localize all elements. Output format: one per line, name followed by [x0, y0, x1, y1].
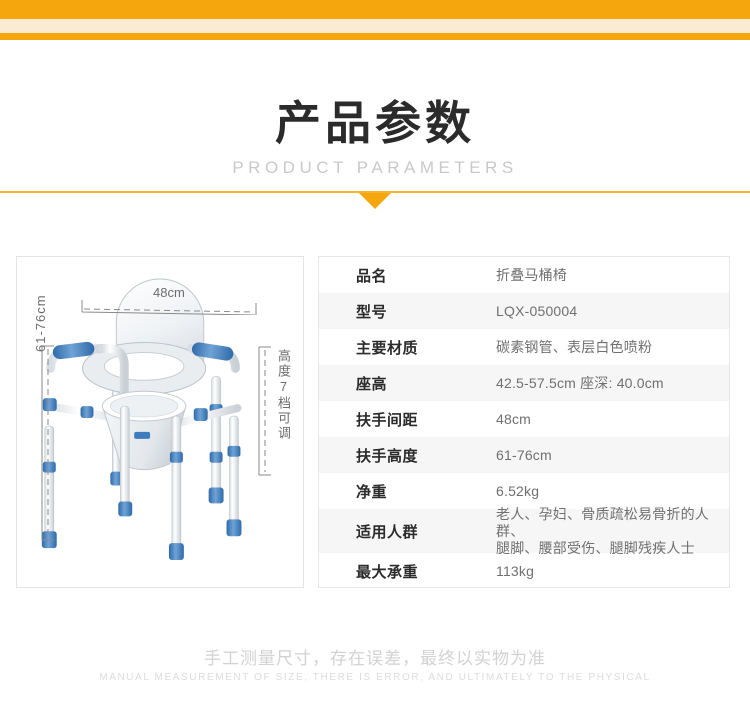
- spec-value: 61-76cm: [496, 447, 729, 464]
- spec-value: LQX-050004: [496, 303, 729, 320]
- dimension-height-bracket: [41, 343, 57, 543]
- spec-value: 老人、孕妇、骨质疏松易骨折的人群、 腿脚、腰部受伤、腿脚残疾人士: [496, 506, 729, 557]
- dimension-height-label: 61-76cm: [33, 294, 48, 352]
- header-bar-orange-top: [0, 0, 750, 19]
- section-heading: 产品参数 PRODUCT PARAMETERS: [0, 95, 750, 178]
- header-bar-cream: [0, 19, 750, 33]
- spec-label: 座高: [356, 373, 496, 394]
- spec-label: 净重: [356, 481, 496, 502]
- table-row: 扶手间距 48cm: [319, 401, 729, 437]
- spec-value: 6.52kg: [496, 483, 729, 500]
- table-row: 座高 42.5-57.5cm 座深: 40.0cm: [319, 365, 729, 401]
- spec-label: 适用人群: [356, 521, 496, 542]
- spec-value: 42.5-57.5cm 座深: 40.0cm: [496, 375, 729, 392]
- spec-label: 品名: [356, 265, 496, 286]
- page-subtitle: PRODUCT PARAMETERS: [0, 158, 750, 178]
- table-row: 型号 LQX-050004: [319, 293, 729, 329]
- table-row: 主要材质 碳素钢管、表层白色喷粉: [319, 329, 729, 365]
- footer-disclaimer: 手工测量尺寸，存在误差，最终以实物为准 MANUAL MEASUREMENT O…: [0, 648, 750, 686]
- product-image-panel: 48cm 61-76cm 高度7档可调: [16, 256, 304, 588]
- table-row: 品名 折叠马桶椅: [319, 257, 729, 293]
- spec-value: 碳素钢管、表层白色喷粉: [496, 339, 729, 356]
- page-title: 产品参数: [0, 95, 750, 151]
- footer-disclaimer-cn: 手工测量尺寸，存在误差，最终以实物为准: [0, 648, 750, 670]
- dimension-adjust-bracket: [257, 345, 273, 477]
- spec-label: 扶手高度: [356, 445, 496, 466]
- header-bar-orange-bottom: [0, 33, 750, 40]
- footer-disclaimer-en: MANUAL MEASUREMENT OF SIZE, THERE IS ERR…: [0, 670, 750, 686]
- spec-label: 最大承重: [356, 561, 496, 582]
- table-row: 最大承重 113kg: [319, 553, 729, 589]
- table-row: 适用人群 老人、孕妇、骨质疏松易骨折的人群、 腿脚、腰部受伤、腿脚残疾人士: [319, 509, 729, 553]
- spec-label: 扶手间距: [356, 409, 496, 430]
- spec-table: 品名 折叠马桶椅 型号 LQX-050004 主要材质 碳素钢管、表层白色喷粉 …: [318, 256, 730, 588]
- dimension-adjust-label: 高度7档可调: [277, 349, 293, 441]
- spec-value: 折叠马桶椅: [496, 267, 729, 284]
- spec-label: 主要材质: [356, 337, 496, 358]
- dimension-width-bracket: [79, 299, 259, 315]
- header-decoration-bars: [0, 0, 750, 40]
- spec-value: 113kg: [496, 563, 729, 580]
- dimension-width-label: 48cm: [153, 285, 185, 300]
- divider-triangle-icon: [359, 193, 391, 209]
- table-row: 净重 6.52kg: [319, 473, 729, 509]
- table-row: 扶手高度 61-76cm: [319, 437, 729, 473]
- spec-value: 48cm: [496, 411, 729, 428]
- spec-label: 型号: [356, 301, 496, 322]
